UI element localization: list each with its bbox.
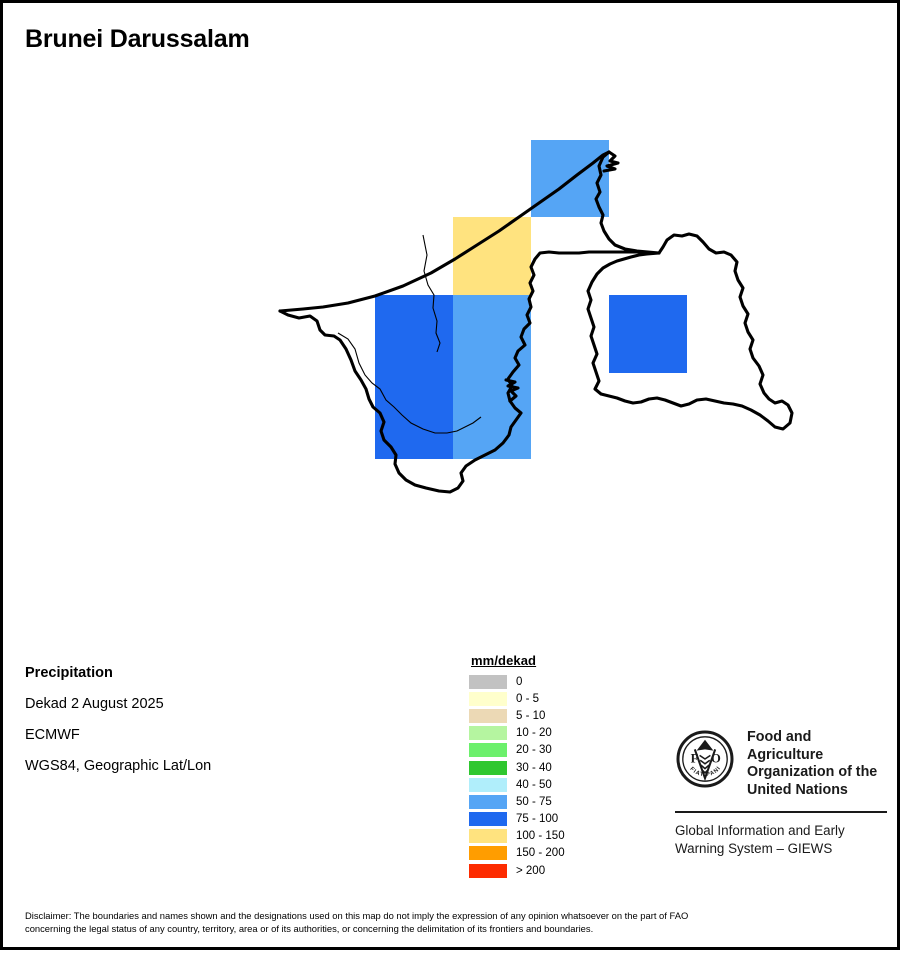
meta-period: Dekad 2 August 2025 bbox=[25, 689, 211, 720]
legend-item: 0 - 5 bbox=[469, 690, 565, 707]
fao-org-line-2: Organization of the bbox=[747, 764, 887, 782]
disclaimer: Disclaimer: The boundaries and names sho… bbox=[25, 909, 885, 935]
fao-branding: F A O FIAT PANIS Food and Agriculture Or… bbox=[675, 729, 887, 858]
svg-text:F: F bbox=[691, 752, 699, 766]
legend-item: 0 bbox=[469, 673, 565, 690]
divider bbox=[675, 811, 887, 813]
map-page: Brunei Darussalam bbox=[0, 0, 900, 950]
legend-label: 100 - 150 bbox=[516, 830, 565, 842]
cell-west bbox=[375, 295, 453, 459]
legend-label: 10 - 20 bbox=[516, 727, 552, 739]
legend-swatch bbox=[469, 761, 507, 775]
legend-item: 20 - 30 bbox=[469, 742, 565, 759]
disclaimer-line-1: Disclaimer: The boundaries and names sho… bbox=[25, 909, 885, 922]
giews-line-2: Warning System – GIEWS bbox=[675, 840, 887, 858]
giews-label: Global Information and Early Warning Sys… bbox=[675, 822, 887, 858]
legend-label: 40 - 50 bbox=[516, 779, 552, 791]
legend-swatch bbox=[469, 743, 507, 757]
legend-swatch bbox=[469, 778, 507, 792]
fao-org-line-1: Food and Agriculture bbox=[747, 729, 887, 764]
fao-emblem-icon: F A O FIAT PANIS bbox=[675, 729, 735, 789]
legend-item: > 200 bbox=[469, 862, 565, 879]
legend-item: 30 - 40 bbox=[469, 759, 565, 776]
legend-item: 40 - 50 bbox=[469, 776, 565, 793]
legend-item: 100 - 150 bbox=[469, 828, 565, 845]
legend-swatch bbox=[469, 692, 507, 706]
legend-item: 50 - 75 bbox=[469, 793, 565, 810]
legend-label: 150 - 200 bbox=[516, 847, 565, 859]
legend-swatch bbox=[469, 812, 507, 826]
meta-projection: WGS84, Geographic Lat/Lon bbox=[25, 751, 211, 782]
svg-text:A: A bbox=[701, 740, 710, 752]
legend-swatch bbox=[469, 726, 507, 740]
map-metadata: Precipitation Dekad 2 August 2025 ECMWF … bbox=[25, 658, 211, 782]
legend-label: 0 - 5 bbox=[516, 693, 539, 705]
legend-label: 0 bbox=[516, 676, 522, 688]
legend-swatch bbox=[469, 864, 507, 878]
legend-swatch bbox=[469, 829, 507, 843]
precipitation-cells bbox=[375, 140, 687, 459]
legend-item: 10 - 20 bbox=[469, 725, 565, 742]
legend-label: > 200 bbox=[516, 865, 545, 877]
legend: mm/dekad 00 - 55 - 1010 - 2020 - 3030 - … bbox=[469, 653, 565, 879]
legend-swatch bbox=[469, 709, 507, 723]
meta-source: ECMWF bbox=[25, 720, 211, 751]
legend-label: 5 - 10 bbox=[516, 710, 545, 722]
legend-label: 30 - 40 bbox=[516, 762, 552, 774]
svg-text:O: O bbox=[711, 752, 721, 766]
legend-label: 20 - 30 bbox=[516, 744, 552, 756]
cell-northwest bbox=[453, 217, 531, 295]
legend-swatch bbox=[469, 675, 507, 689]
giews-line-1: Global Information and Early bbox=[675, 822, 887, 840]
legend-label: 75 - 100 bbox=[516, 813, 558, 825]
legend-title: mm/dekad bbox=[471, 653, 565, 668]
legend-label: 50 - 75 bbox=[516, 796, 552, 808]
fao-organization-name: Food and Agriculture Organization of the… bbox=[747, 729, 887, 799]
meta-variable: Precipitation bbox=[25, 658, 211, 689]
legend-rows: 00 - 55 - 1010 - 2020 - 3030 - 4040 - 50… bbox=[469, 673, 565, 879]
legend-item: 150 - 200 bbox=[469, 845, 565, 862]
disclaimer-line-2: concerning the legal status of any count… bbox=[25, 922, 885, 935]
legend-item: 75 - 100 bbox=[469, 811, 565, 828]
cell-temburong-east bbox=[609, 295, 687, 373]
cell-central-south bbox=[453, 295, 531, 459]
legend-item: 5 - 10 bbox=[469, 707, 565, 724]
legend-swatch bbox=[469, 795, 507, 809]
fao-org-line-3: United Nations bbox=[747, 782, 887, 800]
legend-swatch bbox=[469, 846, 507, 860]
